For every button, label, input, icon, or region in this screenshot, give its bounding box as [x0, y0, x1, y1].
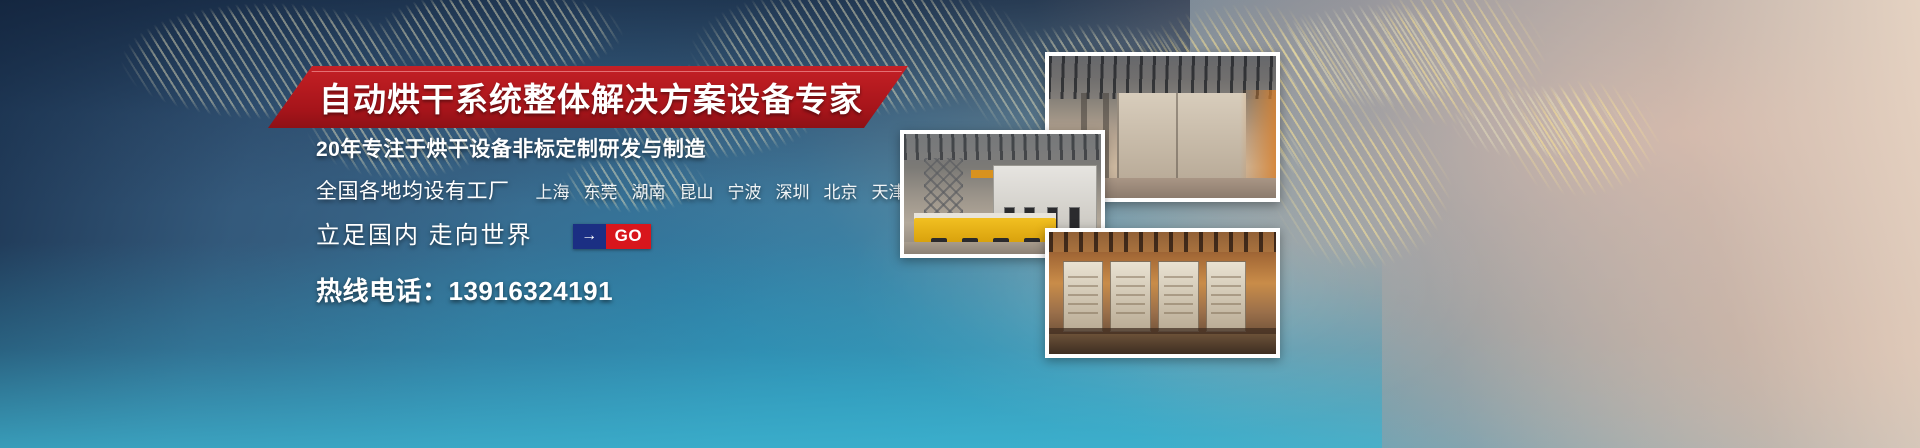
city-item: 宁波: [728, 178, 762, 203]
drying-line-equipment-photo: [1045, 228, 1280, 358]
city-item: 湖南: [632, 178, 666, 203]
slogan-row: 立足国内 走向世界 → GO: [316, 220, 936, 252]
slogan: 立足国内 走向世界: [316, 220, 533, 252]
tagline: 20年专注于烘干设备非标定制研发与制造: [316, 136, 936, 164]
arrow-right-icon: →: [573, 224, 606, 249]
city-item: 昆山: [680, 178, 714, 203]
drying-line-image: [1049, 232, 1276, 354]
city-list: 上海 东莞 湖南 昆山 宁波 深圳 北京 天津: [536, 178, 906, 203]
city-item: 深圳: [776, 178, 810, 203]
factories-lead: 全国各地均设有工厂: [316, 178, 510, 206]
page-title: 自动烘干系统整体解决方案设备专家: [268, 66, 908, 128]
hotline: 热线电话：13916324191: [316, 274, 936, 308]
city-item: 北京: [824, 178, 858, 203]
factories-row: 全国各地均设有工厂 上海 东莞 湖南 昆山 宁波 深圳 北京 天津: [316, 178, 936, 206]
city-item: 东莞: [584, 178, 618, 203]
copy-block: 20年专注于烘干设备非标定制研发与制造 全国各地均设有工厂 上海 东莞 湖南 昆…: [316, 136, 936, 308]
go-button-label: GO: [606, 224, 651, 249]
city-item: 上海: [536, 178, 570, 203]
title-ribbon: 自动烘干系统整体解决方案设备专家: [268, 66, 908, 128]
go-button[interactable]: → GO: [573, 224, 651, 249]
promo-banner: 自动烘干系统整体解决方案设备专家 20年专注于烘干设备非标定制研发与制造 全国各…: [0, 0, 1920, 448]
